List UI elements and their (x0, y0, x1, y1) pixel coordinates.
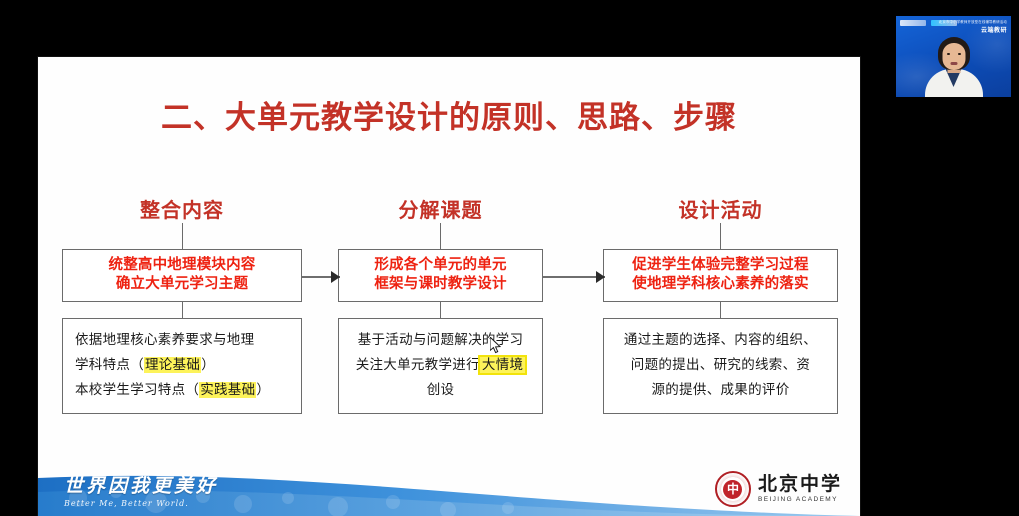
detail-box-2: 基于活动与问题解决的学习关注大单元教学进行大情境创设 (338, 318, 543, 414)
arrow-head (596, 271, 605, 283)
school-motto: 世界因我更美好 Better Me, Better World. (64, 471, 218, 508)
flow-column-1: 整合内容 统整高中地理模块内容 确立大单元学习主题 依据地理核心素养要求与地理学… (62, 197, 302, 414)
school-motto-cn: 世界因我更美好 (64, 471, 218, 498)
school-name-cn: 北京中学 (758, 474, 842, 495)
mouse-pointer-icon (490, 337, 502, 355)
presentation-slide: 二、大单元教学设计的原则、思路、步骤 整合内容 统整高中地理模块内容 确立大单元… (38, 57, 860, 516)
presenter-eye-left (947, 53, 950, 55)
column-header-3: 设计活动 (603, 197, 838, 223)
broadcast-banner-line2: 云端教研 (939, 25, 1007, 34)
detail-box-2-line-3: 创设 (345, 378, 536, 403)
detail-box-3-line-2: 问题的提出、研究的线索、资 (610, 353, 831, 378)
highlighted-term: 实践基础 (199, 382, 256, 398)
red-box-2-line-1: 形成各个单元的单元 (343, 256, 538, 275)
presenter-mouth (950, 62, 957, 65)
connector-header-to-box-1 (182, 223, 183, 249)
highlighted-term: 理论基础 (144, 357, 201, 373)
screen-background: 二、大单元教学设计的原则、思路、步骤 整合内容 统整高中地理模块内容 确立大单元… (0, 0, 1019, 516)
red-box-2-line-2: 框架与课时教学设计 (343, 275, 538, 294)
text-run: ） (201, 357, 215, 373)
school-brand: 中 北京中学 BEIJING ACADEMY (715, 471, 842, 507)
red-box-1: 统整高中地理模块内容 确立大单元学习主题 (62, 249, 302, 302)
presenter-figure (923, 35, 985, 97)
school-seal-glyph: 中 (723, 480, 742, 499)
connector-box-to-detail-2 (440, 302, 441, 318)
connector-header-to-box-3 (720, 223, 721, 249)
page-title: 二、大单元教学设计的原则、思路、步骤 (38, 92, 860, 137)
connector-header-to-box-2 (440, 223, 441, 249)
red-box-3-line-2: 使地理学科核心素养的落实 (608, 275, 833, 294)
detail-box-1-line-1: 依据地理核心素养要求与地理 (69, 328, 295, 353)
flow-column-2: 分解课题 形成各个单元的单元 框架与课时教学设计 基于活动与问题解决的学习关注大… (338, 197, 543, 414)
school-seal-icon: 中 (715, 471, 751, 507)
text-run: 本校学生学习特点（ (75, 382, 199, 398)
school-name-en: BEIJING ACADEMY (758, 496, 842, 503)
text-run: 学科特点（ (75, 357, 144, 373)
highlighted-term: 大情境 (480, 357, 525, 373)
slide-footer: 世界因我更美好 Better Me, Better World. 中 北京中学 … (38, 452, 860, 516)
text-run: ） (256, 382, 270, 398)
red-box-1-line-1: 统整高中地理模块内容 (67, 256, 297, 275)
red-box-1-line-2: 确立大单元学习主题 (67, 275, 297, 294)
text-run: 源的提供、成果的评价 (652, 382, 790, 398)
detail-box-1-line-2: 学科特点（理论基础） (69, 353, 295, 378)
text-run: 关注大单元教学进行 (356, 357, 480, 373)
arrow-right-icon (302, 271, 340, 283)
presenter-video-overlay[interactable]: 北京市中小学教师开放型在线辅导教研活动 云端教研 (890, 4, 1016, 98)
connector-box-to-detail-1 (182, 302, 183, 318)
detail-box-3-line-1: 通过主题的选择、内容的组织、 (610, 328, 831, 353)
text-run: 问题的提出、研究的线索、资 (631, 357, 810, 373)
connector-box-to-detail-3 (720, 302, 721, 318)
text-run: 通过主题的选择、内容的组织、 (624, 332, 817, 348)
detail-box-2-line-2: 关注大单元教学进行大情境 (345, 353, 536, 378)
detail-box-3-line-3: 源的提供、成果的评价 (610, 378, 831, 403)
text-run: 依据地理核心素养要求与地理 (75, 332, 254, 348)
logo-chip-1 (900, 20, 926, 26)
detail-box-2-line-1: 基于活动与问题解决的学习 (345, 328, 536, 353)
detail-box-1: 依据地理核心素养要求与地理学科特点（理论基础）本校学生学习特点（实践基础） (62, 318, 302, 414)
flow-column-3: 设计活动 促进学生体验完整学习过程 使地理学科核心素养的落实 通过主题的选择、内… (603, 197, 838, 414)
presenter-eye-right (958, 53, 961, 55)
red-box-3-line-1: 促进学生体验完整学习过程 (608, 256, 833, 275)
school-motto-en: Better Me, Better World. (64, 499, 218, 508)
detail-box-1-line-3: 本校学生学习特点（实践基础） (69, 378, 295, 403)
arrow-head (331, 271, 340, 283)
school-name: 北京中学 BEIJING ACADEMY (758, 474, 842, 503)
text-run: 创设 (427, 382, 455, 398)
red-box-3: 促进学生体验完整学习过程 使地理学科核心素养的落实 (603, 249, 838, 302)
broadcast-banner: 北京市中小学教师开放型在线辅导教研活动 云端教研 (939, 19, 1007, 34)
column-header-1: 整合内容 (62, 197, 302, 223)
column-header-2: 分解课题 (338, 197, 543, 223)
arrow-right-icon (543, 271, 605, 283)
presenter-video-frame[interactable]: 北京市中小学教师开放型在线辅导教研活动 云端教研 (896, 16, 1011, 97)
presenter-face (942, 43, 965, 70)
detail-box-3: 通过主题的选择、内容的组织、问题的提出、研究的线索、资源的提供、成果的评价 (603, 318, 838, 414)
broadcast-banner-line1: 北京市中小学教师开放型在线辅导教研活动 (939, 19, 1007, 24)
red-box-2: 形成各个单元的单元 框架与课时教学设计 (338, 249, 543, 302)
